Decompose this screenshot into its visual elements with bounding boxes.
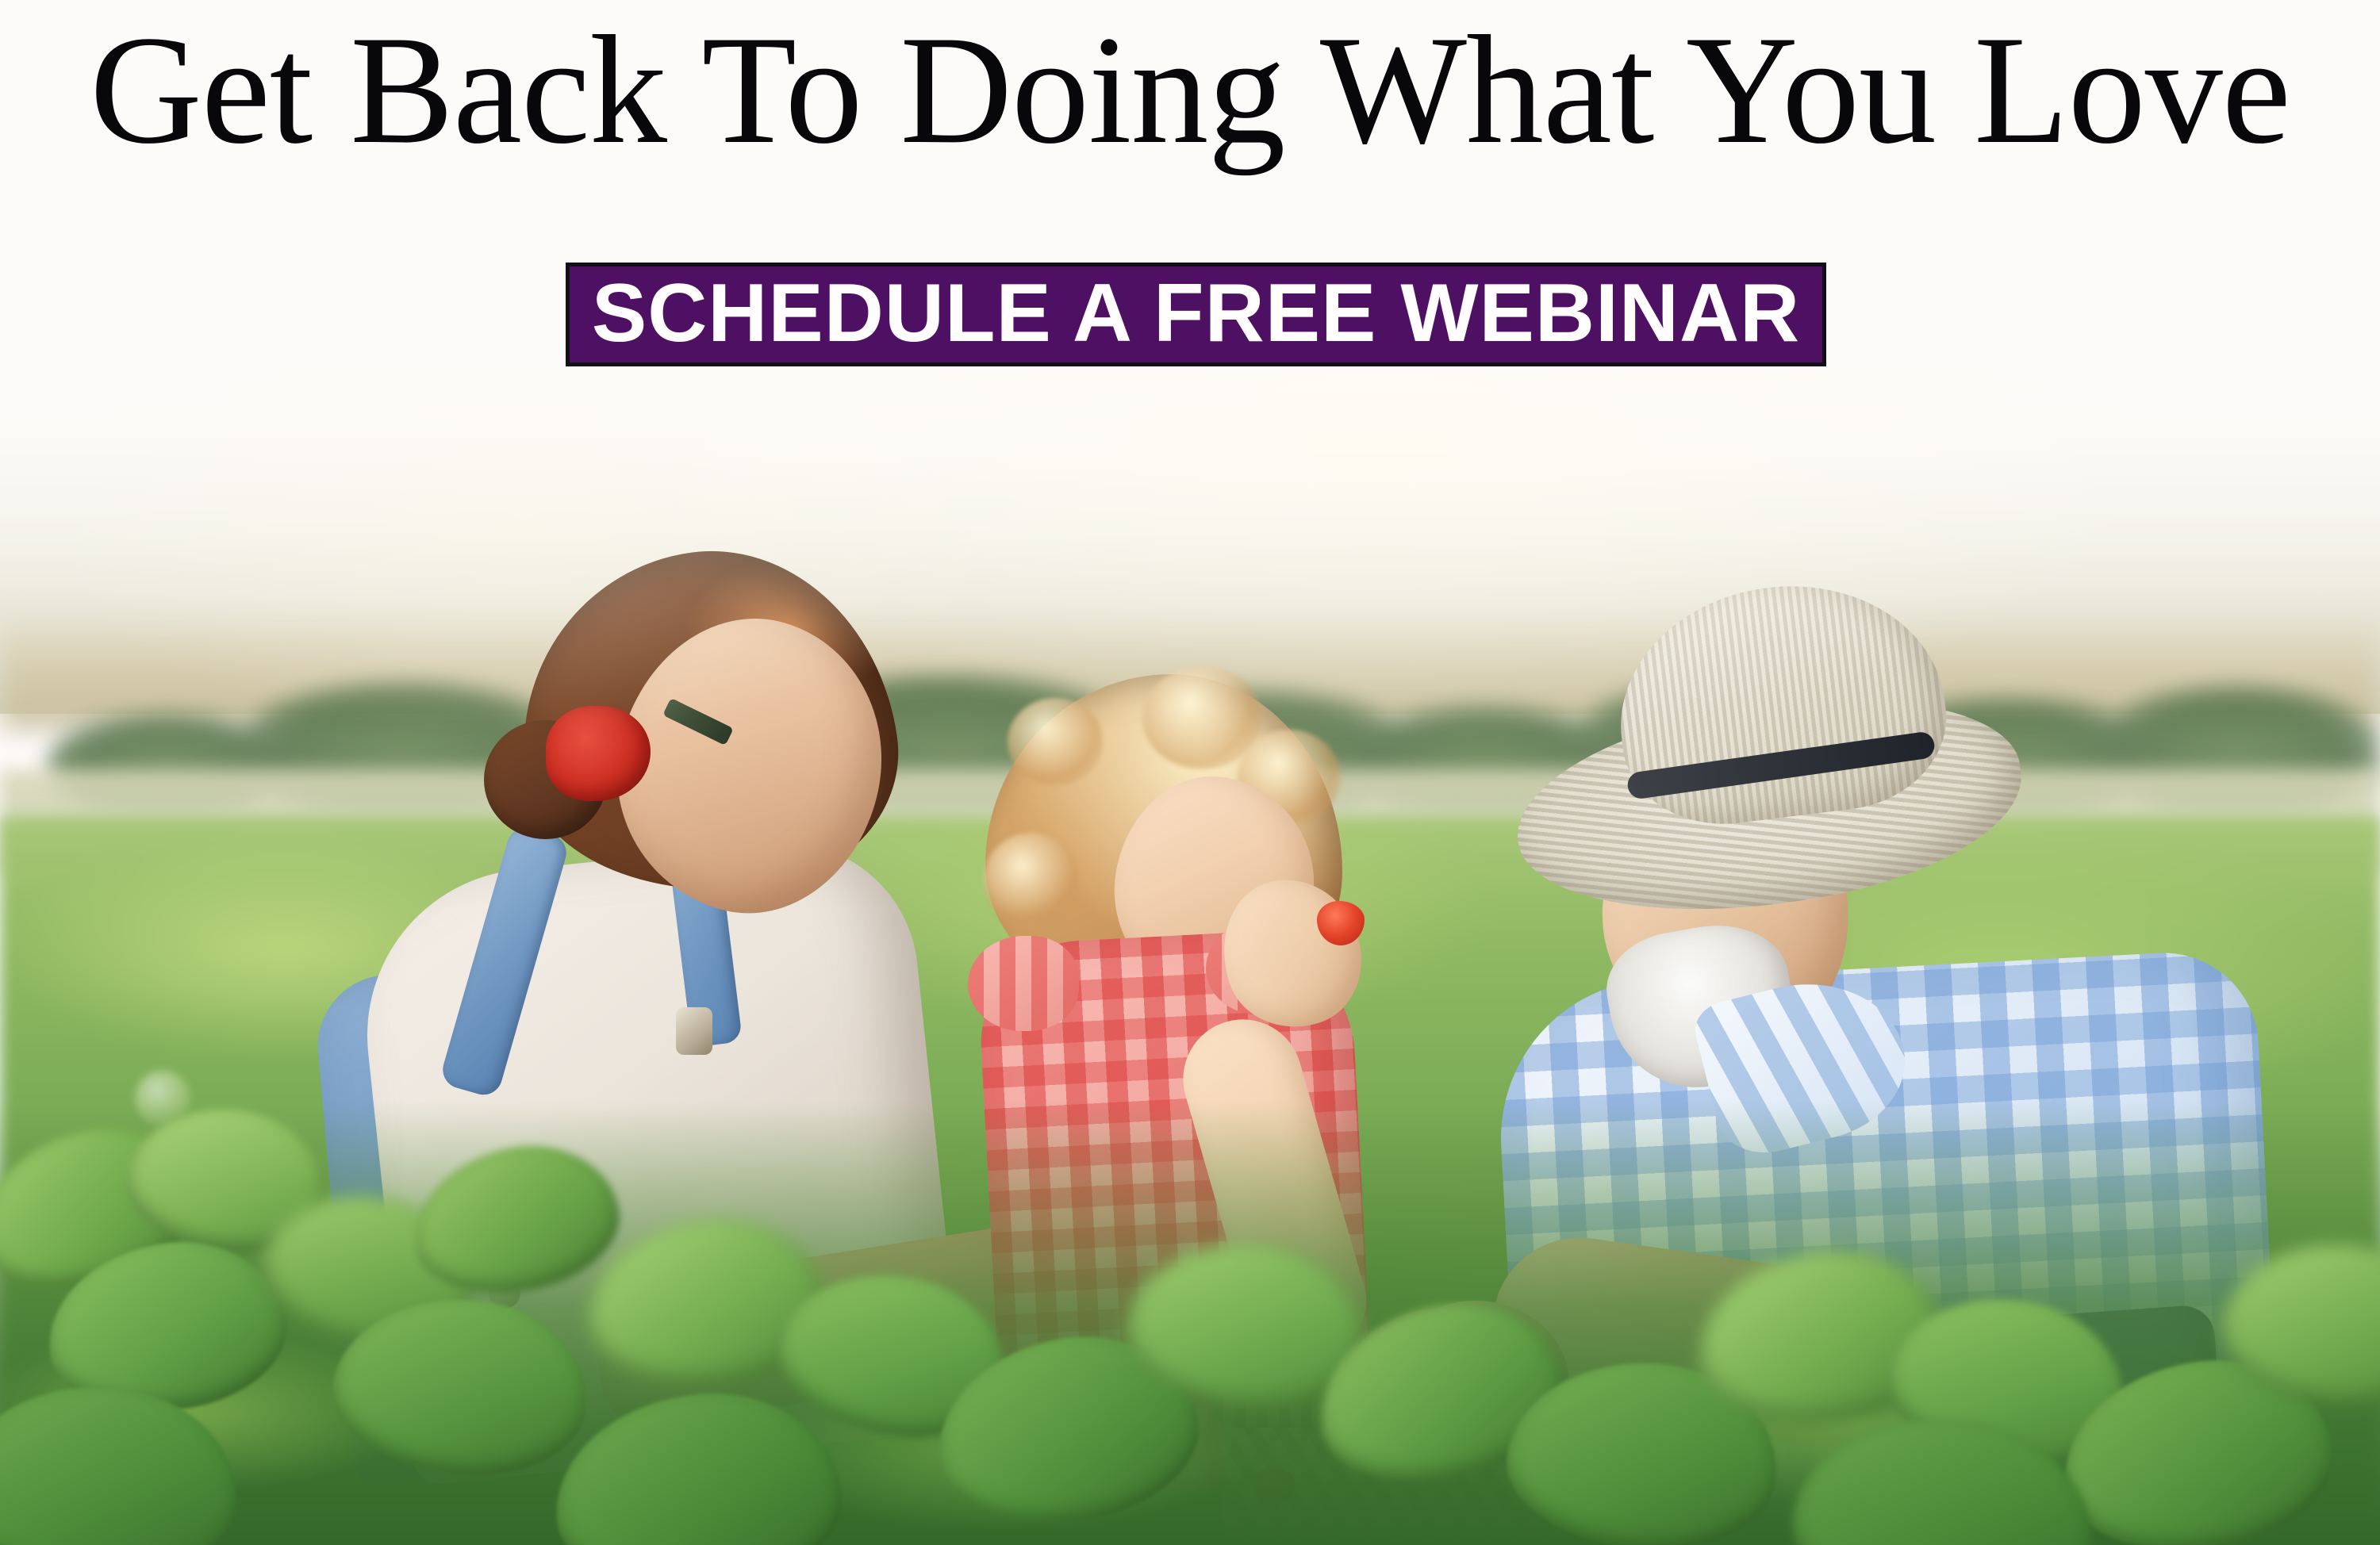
girl-shoulder-ruffle-left [968, 936, 1079, 1031]
foreground-strawberry-plants [0, 1101, 2380, 1545]
hero-photo [0, 373, 2380, 1545]
schedule-free-webinar-button[interactable]: SCHEDULE A FREE WEBINAR [566, 263, 1826, 366]
page-title: Get Back To Doing What You Love [0, 13, 2380, 168]
overall-buckle [676, 1007, 712, 1055]
promo-banner: Get Back To Doing What You Love SCHEDULE… [0, 0, 2380, 1545]
cta-button-wrapper: SCHEDULE A FREE WEBINAR [566, 263, 1826, 366]
